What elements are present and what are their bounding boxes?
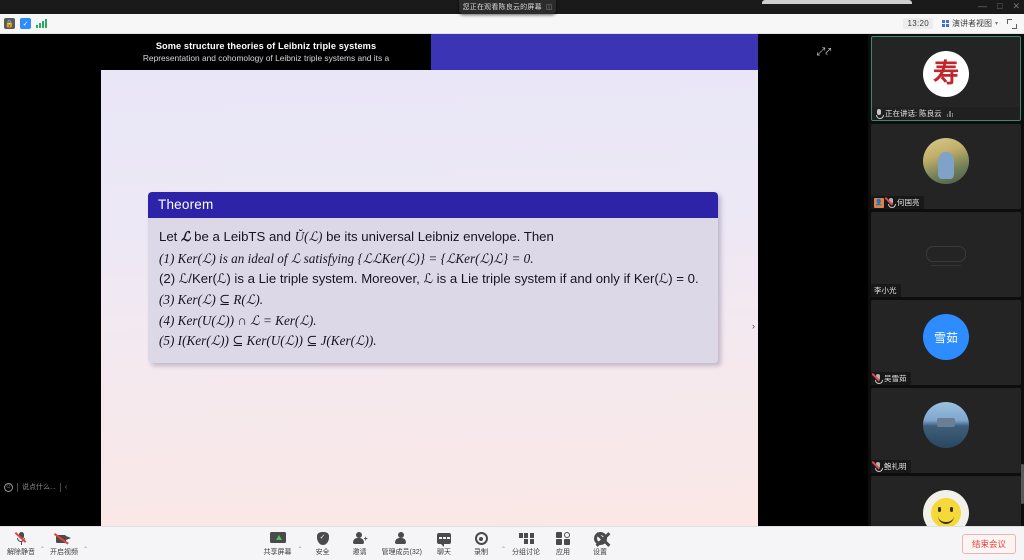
participant-tile[interactable]	[871, 476, 1021, 526]
chat-label: 聊天	[437, 547, 451, 557]
chat-input-placeholder[interactable]: 说点什么...	[22, 482, 56, 492]
participant-filmstrip[interactable]: 寿 正在讲话: 陈良云 👤 何国亮 李小光	[868, 34, 1024, 526]
breakout-rooms-button[interactable]: 分组讨论	[509, 529, 543, 558]
maximize-button[interactable]: □	[997, 1, 1002, 11]
settings-gear-icon	[594, 531, 607, 546]
chevron-down-icon: ▾	[995, 20, 998, 27]
mute-button[interactable]: 解除静音	[4, 529, 38, 558]
toolbar-left-group: 解除静音 ⌃ 开启视频 ⌃	[0, 529, 88, 558]
theorem-item-3: (3) Ker(ℒ) ⊆ R(ℒ).	[159, 290, 707, 310]
participant-name: 正在讲话: 陈良云	[885, 108, 942, 119]
divider	[60, 483, 61, 492]
end-meeting-button[interactable]: 结束会议	[962, 534, 1016, 554]
share-screen-label: 共享屏幕	[264, 547, 292, 557]
mic-icon	[875, 109, 882, 118]
shield-icon[interactable]: ✓	[20, 18, 31, 29]
participant-tile[interactable]: 寿 正在讲话: 陈良云	[871, 36, 1021, 121]
participant-tile[interactable]: 李小光	[871, 212, 1021, 297]
avatar: 雪茹	[923, 314, 969, 360]
zoom-top-bar: 🔒 ✓ 13:20 演讲者视图 ▾	[0, 14, 1024, 34]
floating-chat-input[interactable]: ☺ 说点什么... ‹	[0, 478, 78, 496]
shared-screen-stage[interactable]: Some structure theories of Leibniz tripl…	[0, 34, 868, 526]
lock-icon[interactable]: 🔒	[4, 18, 15, 29]
avatar-glyph: 雪茹	[934, 329, 958, 346]
slide-canvas: Theorem Let ℒ be a LeibTS and Ŭ(ℒ) be it…	[101, 70, 758, 526]
speaker-view-icon	[942, 20, 949, 27]
participant-tile[interactable]: 👤 何国亮	[871, 124, 1021, 209]
window-controls: — □ ✕	[978, 1, 1020, 11]
slide-header-strip	[431, 34, 758, 70]
manage-participants-label: 管理成员(32)	[382, 547, 422, 557]
mute-button-label: 解除静音	[7, 547, 35, 557]
theorem-intro-pre: Let	[159, 229, 181, 244]
camera-off-icon	[56, 531, 72, 546]
share-screen-button[interactable]: 共享屏幕	[261, 529, 295, 558]
participant-namebar: 鲍礼明	[871, 460, 911, 473]
manage-participants-button[interactable]: 管理成员(32)	[380, 529, 424, 558]
emoji-icon[interactable]: ☺	[4, 483, 13, 492]
participant-name: 李小光	[874, 285, 897, 296]
expand-arrows-icon[interactable]: ⤢⤤	[816, 45, 832, 59]
theorem-item-4: (4) Ker(U(ℒ)) ∩ ℒ = Ker(ℒ).	[159, 311, 707, 331]
smiley-icon	[931, 498, 961, 526]
record-icon	[475, 531, 488, 546]
theorem-item-2: (2) ℒ/Ker(ℒ) is a Lie triple system. Mor…	[159, 269, 707, 289]
shield-check-icon	[317, 531, 329, 546]
invite-person-icon: +	[353, 531, 367, 546]
apps-button[interactable]: 应用	[546, 529, 580, 558]
toolbar-center-group: 共享屏幕 ⌃ 安全 + 邀请 管理成员(32)	[261, 529, 618, 558]
theorem-item-1: (1) Ker(ℒ) is an ideal of ℒ satisfying {…	[159, 249, 707, 269]
video-options-caret-icon[interactable]: ⌃	[83, 546, 88, 553]
participant-namebar: 👤 何国亮	[871, 196, 924, 209]
security-label: 安全	[316, 547, 330, 557]
mute-options-caret-icon[interactable]: ⌃	[40, 546, 45, 553]
record-label: 录制	[474, 547, 488, 557]
meeting-toolbar: 解除静音 ⌃ 开启视频 ⌃ 共享屏幕 ⌃ 安全	[0, 526, 1024, 560]
divider	[17, 483, 18, 492]
apps-icon	[556, 531, 570, 546]
avatar	[923, 138, 969, 184]
mic-muted-icon	[874, 462, 881, 471]
security-button[interactable]: 安全	[306, 529, 340, 558]
mic-muted-icon	[17, 531, 26, 546]
zoom-meeting-window: — □ ✕ 您正在观看陈良云的屏幕 ◫ 🔒 ✓ 13:20 演讲者视图 ▾ So	[0, 0, 1024, 560]
participant-namebar: 李小光	[871, 284, 901, 297]
screen-share-banner[interactable]: 您正在观看陈良云的屏幕 ◫	[459, 0, 556, 14]
theorem-block: Theorem Let ℒ be a LeibTS and Ŭ(ℒ) be it…	[148, 192, 718, 363]
breakout-rooms-label: 分组讨论	[512, 547, 540, 557]
screen-share-icon: ◫	[546, 3, 553, 11]
avatar	[923, 490, 969, 526]
breakout-rooms-icon	[519, 531, 534, 546]
theorem-item-5: (5) I(Ker(ℒ)) ⊆ Ker(U(ℒ)) ⊆ J(Ker(ℒ)).	[159, 331, 707, 351]
slide-header: Some structure theories of Leibniz tripl…	[101, 34, 431, 70]
record-button[interactable]: 录制	[464, 529, 498, 558]
zoom-top-bar-right: 13:20 演讲者视图 ▾	[903, 18, 1024, 29]
theorem-body: Let ℒ be a LeibTS and Ŭ(ℒ) be its univer…	[148, 218, 718, 363]
panel-collapse-arrow-icon[interactable]: ›	[752, 320, 758, 332]
theorem-intro-post: be its universal Leibniz envelope. Then	[322, 229, 553, 244]
participant-name: 吴雪茹	[884, 373, 907, 384]
apps-label: 应用	[556, 547, 570, 557]
settings-button[interactable]: 设置	[583, 529, 617, 558]
share-banner-text: 您正在观看陈良云的屏幕	[463, 2, 542, 12]
signal-bars-icon[interactable]	[36, 19, 47, 28]
speaking-wave-icon	[947, 110, 954, 117]
send-arrow-icon[interactable]: ‹	[65, 484, 67, 491]
theorem-symbol-L: ℒ	[181, 230, 191, 245]
slide-title: Some structure theories of Leibniz tripl…	[156, 41, 376, 51]
participant-namebar: 吴雪茹	[871, 372, 911, 385]
share-options-caret-icon[interactable]: ⌃	[298, 546, 303, 553]
mic-muted-icon	[887, 198, 894, 207]
theorem-symbol-U: Ŭ(ℒ)	[295, 229, 323, 244]
participants-icon	[395, 531, 409, 546]
avatar	[923, 402, 969, 448]
participant-tile[interactable]: 鲍礼明	[871, 388, 1021, 473]
start-video-button[interactable]: 开启视频	[47, 529, 81, 558]
avatar: 寿	[923, 51, 969, 97]
view-mode-selector[interactable]: 演讲者视图 ▾	[942, 18, 998, 29]
fullscreen-icon[interactable]	[1007, 19, 1017, 29]
invite-button[interactable]: + 邀请	[343, 529, 377, 558]
avatar-glyph: 寿	[933, 61, 959, 87]
theorem-intro-mid: be a LeibTS and	[191, 229, 295, 244]
screen-share-icon	[270, 531, 286, 546]
theorem-intro: Let ℒ be a LeibTS and Ŭ(ℒ) be its univer…	[159, 227, 707, 248]
host-badge: 👤	[874, 198, 884, 208]
close-button[interactable]: ✕	[1012, 1, 1020, 11]
participant-name: 何国亮	[897, 197, 920, 208]
browser-tab-sliver[interactable]	[762, 0, 912, 4]
chat-button[interactable]: 聊天	[427, 529, 461, 558]
minimize-button[interactable]: —	[978, 1, 987, 11]
mic-muted-icon	[874, 374, 881, 383]
record-options-caret-icon[interactable]: ⌃	[501, 546, 506, 553]
slide-subtitle: Representation and cohomology of Leibniz…	[143, 53, 389, 63]
zoom-top-bar-left: 🔒 ✓	[0, 18, 47, 29]
view-mode-label: 演讲者视图	[952, 18, 992, 29]
theorem-heading: Theorem	[148, 192, 718, 218]
chat-icon	[437, 531, 451, 546]
settings-label: 设置	[593, 547, 607, 557]
meeting-clock: 13:20	[903, 18, 933, 29]
invite-label: 邀请	[353, 547, 367, 557]
toolbar-right-group: 结束会议	[962, 534, 1024, 554]
participant-name: 鲍礼明	[884, 461, 907, 472]
participant-namebar: 正在讲话: 陈良云	[872, 107, 1020, 120]
participant-tile[interactable]: 雪茹 吴雪茹	[871, 300, 1021, 385]
start-video-button-label: 开启视频	[50, 547, 78, 557]
